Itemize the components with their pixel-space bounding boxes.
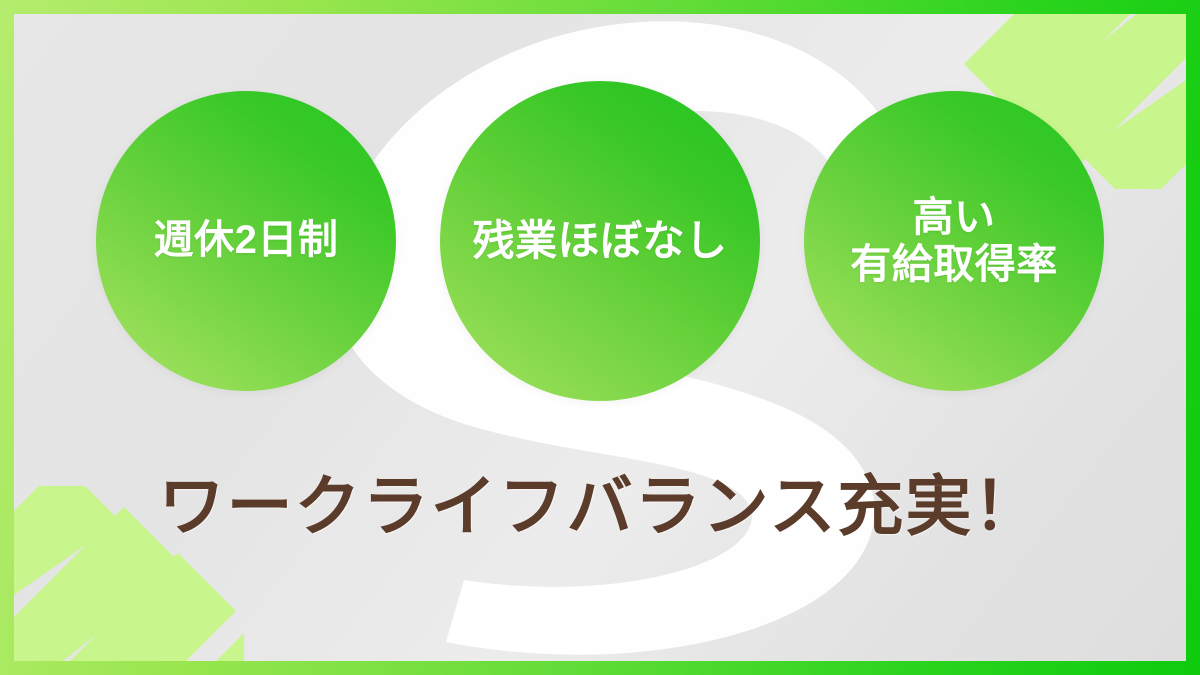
feature-bubble-label: 残業ほぼなし [460,217,739,265]
page-title: ワークライフバランス充実！ [159,473,1042,539]
feature-bubble-label: 週休2日制 [142,218,351,264]
slide-canvas: 週休2日制 残業ほぼなし 高い 有給取得率 ワークライフバランス充実！ [0,0,1200,675]
feature-bubble-row: 週休2日制 残業ほぼなし 高い 有給取得率 [14,76,1186,406]
feature-bubble-paid-leave[interactable]: 高い 有給取得率 [804,91,1104,391]
feature-bubble-overtime[interactable]: 残業ほぼなし [440,81,760,401]
headline-area: ワークライフバランス充実！ [14,446,1186,566]
feature-bubble-weekly-holiday[interactable]: 週休2日制 [96,91,396,391]
feature-bubble-label: 高い 有給取得率 [838,194,1070,287]
slide-stage: 週休2日制 残業ほぼなし 高い 有給取得率 ワークライフバランス充実！ [14,14,1186,661]
